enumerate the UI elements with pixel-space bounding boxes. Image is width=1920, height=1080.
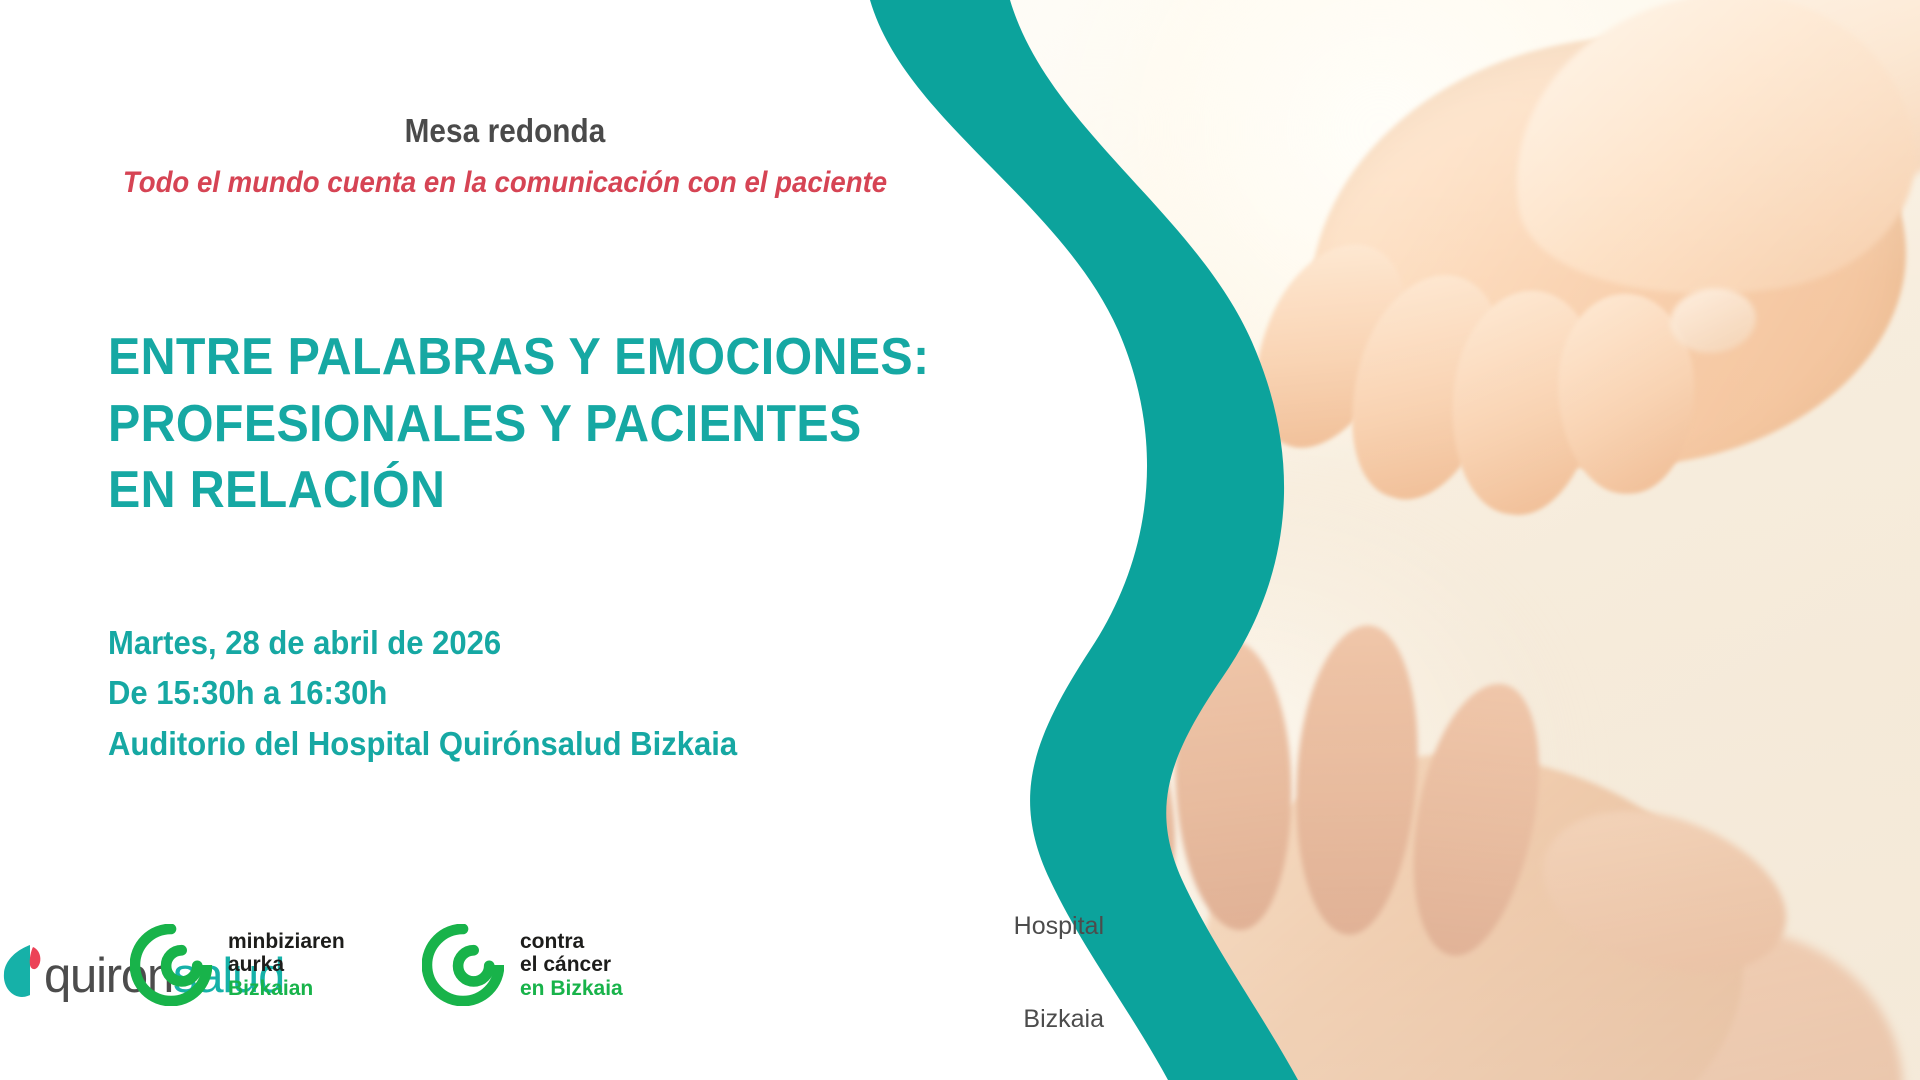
headline-line-3: en relación	[108, 457, 880, 524]
logo-line-2: el cáncer	[520, 953, 623, 977]
logo-line-1: minbiziaren	[228, 930, 345, 954]
logo-aecc-bizkaian: minbiziaren aurka Bizkaian	[130, 924, 345, 1006]
event-kicker: Mesa redonda	[51, 112, 960, 150]
logo-line-3: Bizkaian	[228, 977, 345, 1001]
logo-line-3: en Bizkaia	[520, 977, 623, 1001]
headline-line-1: Entre palabras y emociones:	[108, 324, 880, 391]
event-headline: Entre palabras y emociones: Profesionale…	[108, 324, 880, 524]
aecc-c-icon	[130, 924, 212, 1006]
poster-canvas: Mesa redonda Todo el mundo cuenta en la …	[0, 0, 1920, 1080]
event-details: Martes, 28 de abril de 2026 De 15:30h a …	[108, 618, 888, 769]
logo-quironsalud-location: Bizkaia	[0, 1005, 1110, 1034]
quironsalud-petal-icon	[0, 941, 44, 1001]
logo-line-1: contra	[520, 930, 623, 954]
aecc-c-icon	[422, 924, 504, 1006]
logo-aecc-bizkaian-text: minbiziaren aurka Bizkaian	[228, 930, 345, 1001]
event-time: De 15:30h a 16:30h	[108, 668, 888, 718]
logo-aecc-bizkaia: contra el cáncer en Bizkaia	[422, 924, 623, 1006]
event-subkicker: Todo el mundo cuenta en la comunicación …	[40, 166, 969, 200]
logo-line-2: aurka	[228, 953, 345, 977]
event-date: Martes, 28 de abril de 2026	[108, 618, 888, 668]
event-venue: Auditorio del Hospital Quirónsalud Bizka…	[108, 719, 888, 769]
logo-aecc-bizkaia-text: contra el cáncer en Bizkaia	[520, 930, 623, 1001]
headline-line-2: Profesionales y pacientes	[108, 391, 880, 458]
logo-strip: minbiziaren aurka Bizkaian contra el cán…	[0, 912, 1110, 1062]
